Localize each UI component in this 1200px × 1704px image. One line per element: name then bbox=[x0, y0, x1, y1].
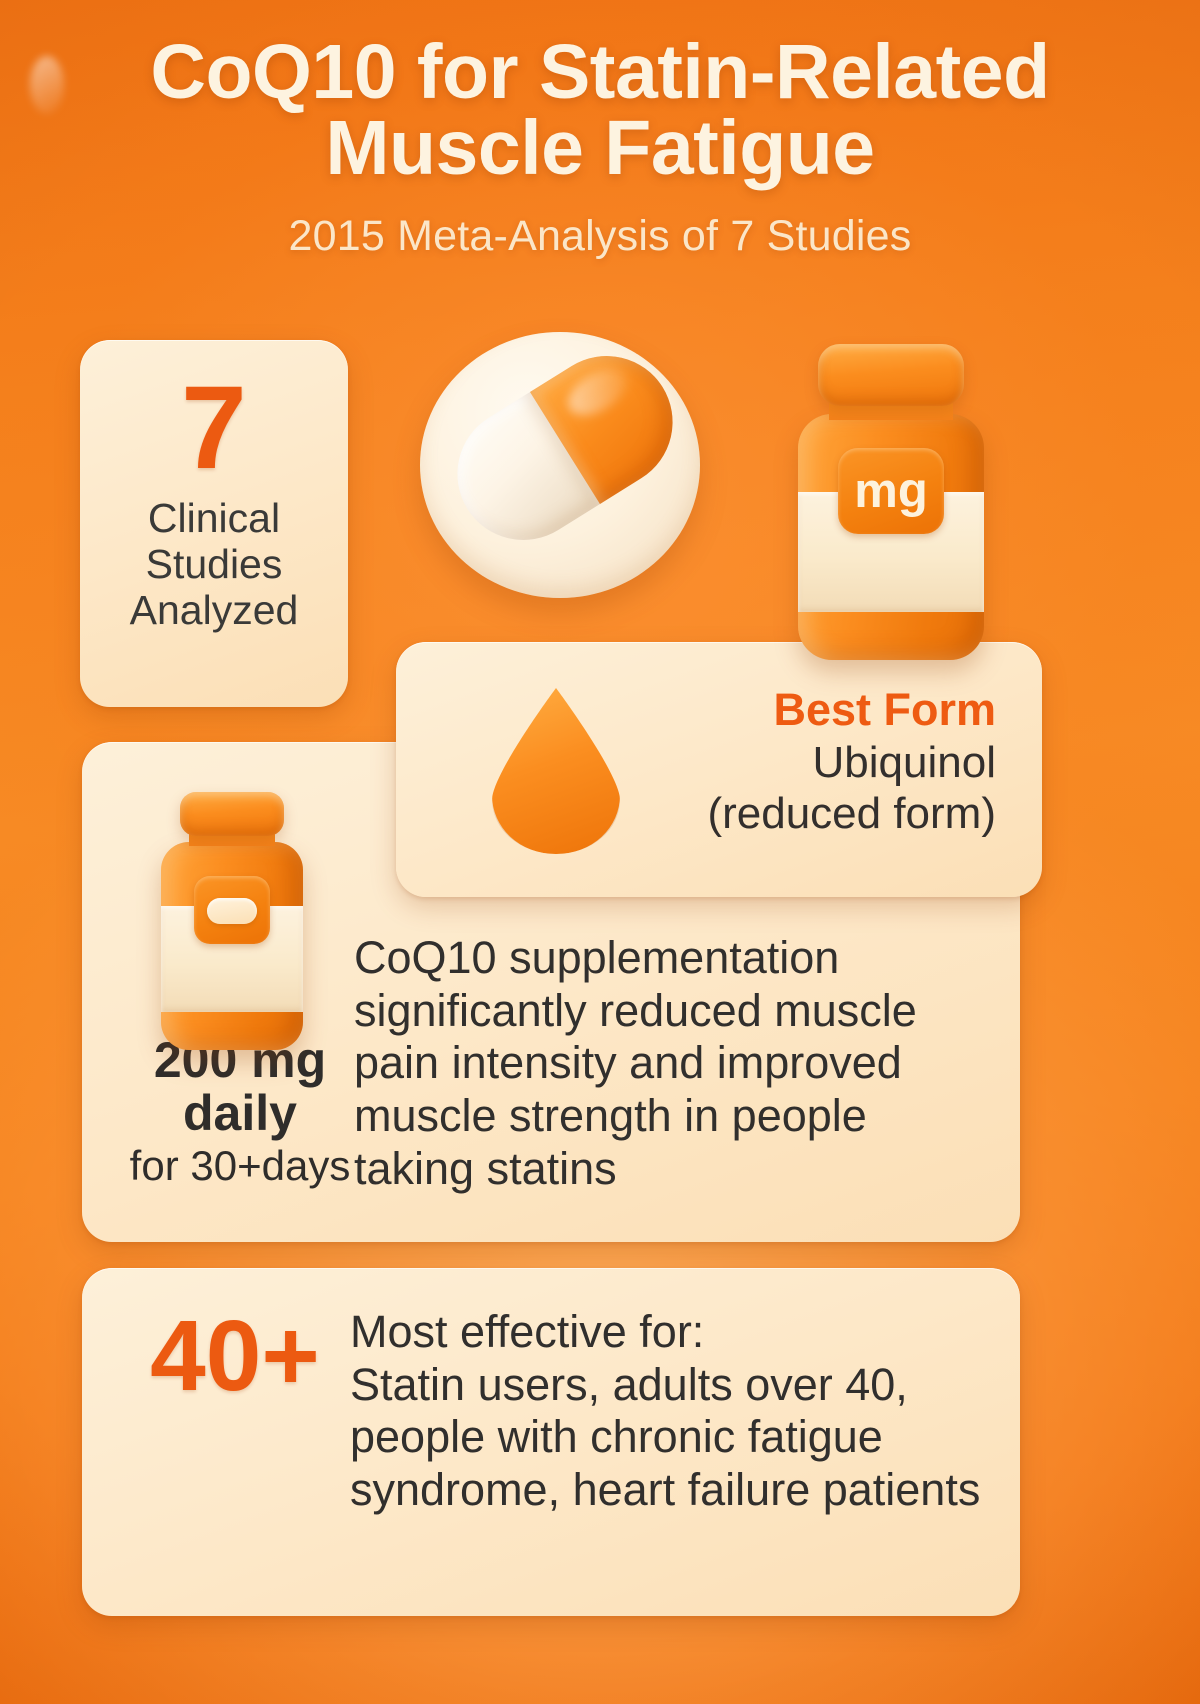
audience-heading: Most effective for: bbox=[350, 1306, 1000, 1359]
best-form-subtitle: (reduced form) bbox=[596, 788, 996, 839]
droplet-highlight bbox=[30, 56, 64, 114]
studies-label-line-2: Studies bbox=[130, 541, 299, 587]
page-subtitle: 2015 Meta-Analysis of 7 Studies bbox=[0, 212, 1200, 261]
audience-card: 40+ Most effective for: Statin users, ad… bbox=[82, 1268, 1020, 1616]
infographic-poster: CoQ10 for Statin-Related Muscle Fatigue … bbox=[0, 0, 1200, 1704]
best-form-text-block: Best Form Ubiquinol (reduced form) bbox=[596, 686, 996, 839]
dosage-duration: for 30+days bbox=[106, 1142, 374, 1189]
audience-list-text: Statin users, adults over 40, people wit… bbox=[350, 1359, 1000, 1517]
page-title: CoQ10 for Statin-Related Muscle Fatigue bbox=[0, 34, 1200, 186]
studies-label-line-3: Analyzed bbox=[130, 587, 299, 633]
best-form-card: Best Form Ubiquinol (reduced form) bbox=[396, 642, 1042, 897]
supplement-bottle-icon bbox=[152, 792, 312, 1052]
capsule-pill-icon bbox=[412, 318, 712, 618]
audience-text-block: Most effective for: Statin users, adults… bbox=[350, 1306, 1000, 1517]
studies-label-line-1: Clinical bbox=[130, 495, 299, 541]
mg-bottle-icon: mg bbox=[786, 344, 996, 660]
best-form-kicker: Best Form bbox=[596, 686, 996, 733]
poster-header: CoQ10 for Statin-Related Muscle Fatigue … bbox=[0, 34, 1200, 261]
dose-bottle-tablet-glyph bbox=[207, 898, 257, 924]
best-form-name: Ubiquinol bbox=[596, 737, 996, 788]
dose-bottle-cap bbox=[180, 792, 284, 836]
mg-badge-text: mg bbox=[854, 467, 928, 516]
studies-label: Clinical Studies Analyzed bbox=[130, 495, 299, 634]
studies-card: 7 Clinical Studies Analyzed bbox=[80, 340, 348, 707]
dose-bottle-body bbox=[161, 842, 303, 1050]
title-line-2: Muscle Fatigue bbox=[60, 110, 1140, 186]
mg-bottle-cap bbox=[818, 344, 964, 406]
dosage-finding-text: CoQ10 supplementation significantly redu… bbox=[354, 932, 994, 1195]
dosage-text-block: 200 mg daily for 30+days bbox=[106, 1034, 374, 1189]
audience-age-number: 40+ bbox=[110, 1306, 360, 1406]
studies-count: 7 bbox=[181, 374, 247, 483]
dosage-frequency: daily bbox=[106, 1087, 374, 1140]
capsule-highlight bbox=[561, 359, 635, 424]
mg-badge: mg bbox=[838, 448, 944, 534]
title-line-1: CoQ10 for Statin-Related bbox=[150, 29, 1049, 115]
